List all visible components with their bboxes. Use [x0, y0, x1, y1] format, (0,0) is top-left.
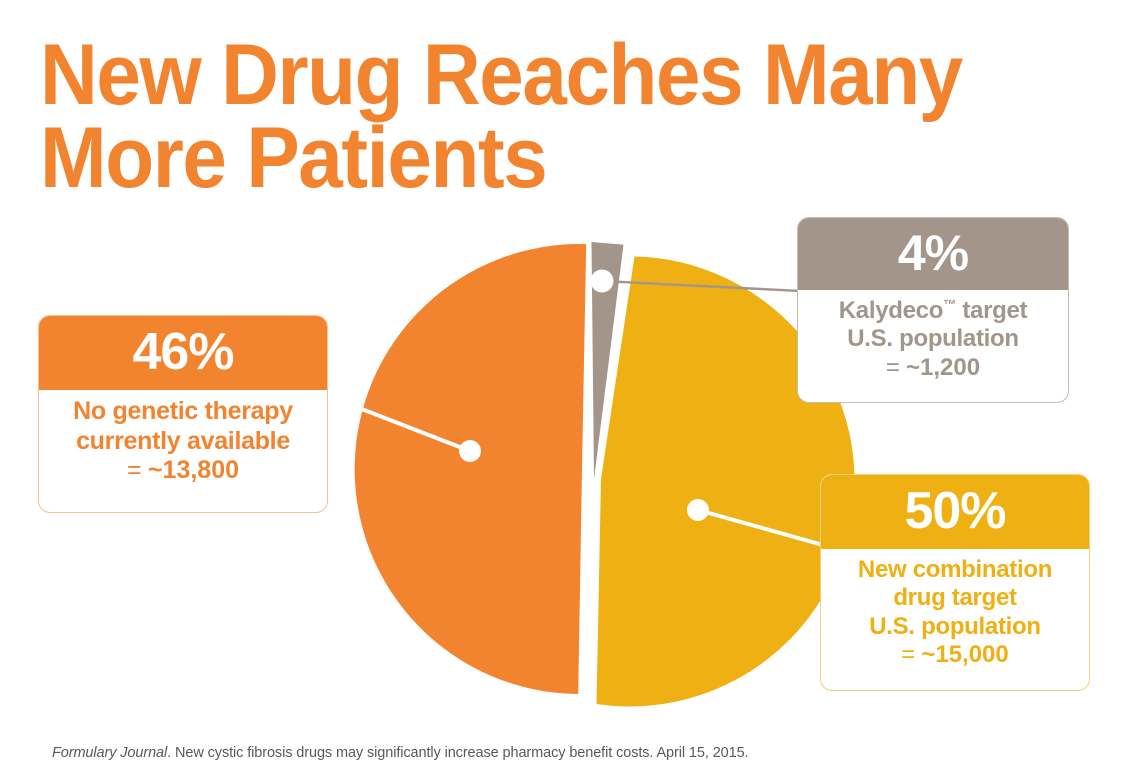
callout-gray-number: ~1,200 — [906, 354, 980, 381]
callout-yellow-line2: drug target — [831, 584, 1079, 612]
infographic-page: New Drug Reaches Many More Patients 46% — [0, 0, 1134, 781]
callout-gray-line1-suffix: target — [956, 297, 1027, 324]
source-journal-name: Formulary Journal — [52, 745, 167, 761]
callout-yellow-number: ~15,000 — [921, 641, 1008, 668]
pie-chart — [300, 215, 860, 735]
source-citation-text: . New cystic fibrosis drugs may signific… — [167, 745, 748, 761]
callout-gray-line1: Kalydeco™ target — [808, 297, 1058, 325]
pie-slice-no-genetic-therapy[interactable] — [355, 244, 587, 694]
callout-orange-body: No genetic therapy currently available =… — [39, 390, 327, 498]
source-citation: Formulary Journal. New cystic fibrosis d… — [52, 745, 748, 761]
callout-new-combination-target[interactable]: 50% New combination drug target U.S. pop… — [820, 474, 1090, 691]
callout-gray-percent: 4% — [798, 218, 1068, 290]
callout-orange-percent: 46% — [39, 316, 327, 390]
callout-gray-brand: Kalydeco — [839, 297, 943, 324]
page-title: New Drug Reaches Many More Patients — [40, 34, 989, 199]
callout-gray-equals: = — [886, 354, 906, 381]
callout-orange-number: ~13,800 — [148, 456, 239, 484]
pie-chart-svg — [300, 215, 860, 735]
callout-orange-line3: = ~13,800 — [49, 456, 317, 486]
callout-gray-line2: U.S. population — [808, 325, 1058, 353]
callout-orange-line2: currently available — [49, 427, 317, 457]
callout-orange-equals: = — [127, 456, 148, 484]
callout-yellow-line3: U.S. population — [831, 613, 1079, 641]
callout-yellow-equals: = — [901, 641, 921, 668]
leader-dot-gray — [591, 270, 614, 293]
callout-yellow-body: New combination drug target U.S. populat… — [821, 549, 1089, 681]
callout-yellow-percent: 50% — [821, 475, 1089, 549]
callout-yellow-line1: New combination — [831, 556, 1079, 584]
leader-dot-orange — [459, 440, 481, 462]
callout-no-genetic-therapy[interactable]: 46% No genetic therapy currently availab… — [38, 315, 328, 513]
callout-orange-line1: No genetic therapy — [49, 397, 317, 427]
callout-kalydeco-target[interactable]: 4% Kalydeco™ target U.S. population = ~1… — [797, 217, 1069, 403]
callout-gray-line3: = ~1,200 — [808, 354, 1058, 382]
callout-gray-body: Kalydeco™ target U.S. population = ~1,20… — [798, 290, 1068, 394]
trademark-icon: ™ — [943, 297, 956, 312]
leader-dot-yellow — [687, 499, 709, 521]
callout-yellow-line4: = ~15,000 — [831, 641, 1079, 669]
